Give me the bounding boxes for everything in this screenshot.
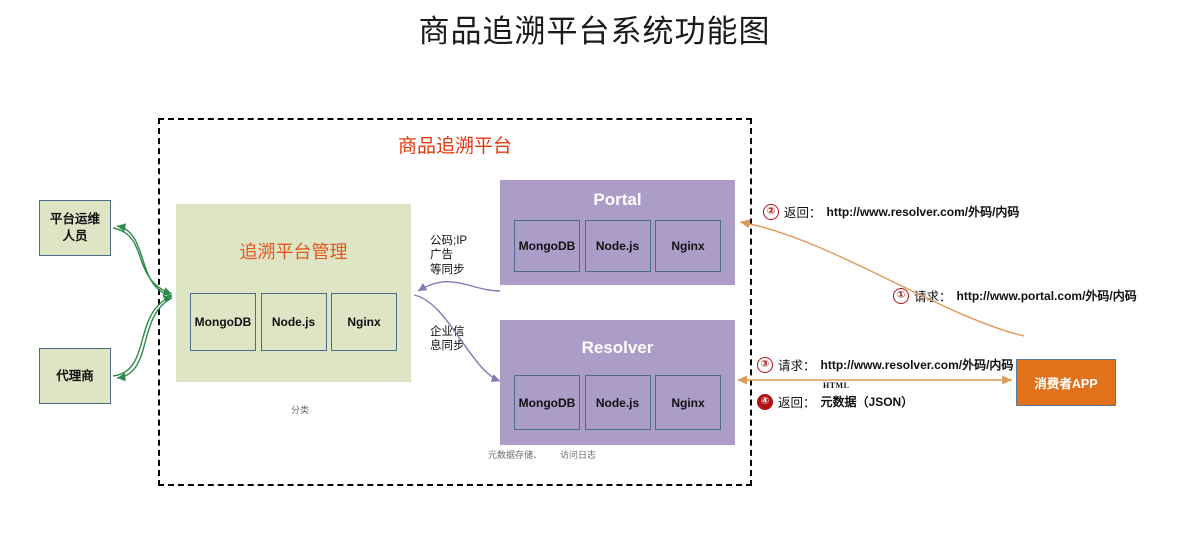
portal-title: Portal: [500, 190, 735, 210]
annotation-4-number: ④: [757, 394, 773, 410]
resolver-title: Resolver: [500, 338, 735, 358]
annotation-3-action: 请求：: [778, 355, 816, 374]
annotation-2-action: 返回：: [784, 202, 822, 221]
portal-components: MongoDB Node.js Nginx: [500, 220, 735, 272]
annotation-4-url: 元数据（JSON）: [821, 393, 914, 410]
component-mongodb[interactable]: MongoDB: [190, 293, 256, 351]
portal-component-mongodb[interactable]: MongoDB: [514, 220, 580, 272]
platform-management-title: 追溯平台管理: [176, 238, 411, 264]
footnote-metadata-store: 元数据存储、: [488, 448, 542, 461]
resolver-box[interactable]: Resolver MongoDB Node.js Nginx: [500, 320, 735, 445]
footnote-access-log: 访问日志: [560, 448, 596, 461]
resolver-components: MongoDB Node.js Nginx: [500, 375, 735, 430]
annotation-2-url: http://www.resolver.com/外码/内码: [827, 203, 1020, 220]
consumer-app-box[interactable]: 消费者APP: [1016, 359, 1116, 406]
platform-management-components: MongoDB Node.js Nginx: [176, 293, 411, 351]
footnote-classify: 分类: [291, 403, 309, 416]
actor-platform-ops[interactable]: 平台运维人员: [39, 200, 111, 256]
annotation-1-url: http://www.portal.com/外码/内码: [957, 287, 1137, 304]
annotation-3: ③ 请求： http://www.resolver.com/外码/内码: [757, 355, 1013, 374]
sync-label-bottom: 企业信息同步: [430, 325, 490, 354]
actor-platform-ops-label: 平台运维人员: [50, 211, 100, 245]
portal-component-nodejs[interactable]: Node.js: [585, 220, 651, 272]
portal-component-nginx[interactable]: Nginx: [655, 220, 721, 272]
annotation-3-number: ③: [757, 357, 773, 373]
annotation-2: ② 返回： http://www.resolver.com/外码/内码: [763, 202, 1019, 221]
resolver-component-nodejs[interactable]: Node.js: [585, 375, 651, 430]
annotation-4: ④ 返回： 元数据（JSON）: [757, 392, 913, 411]
actor-agent[interactable]: 代理商: [39, 348, 111, 404]
component-nginx[interactable]: Nginx: [331, 293, 397, 351]
html-protocol-label: HTML: [823, 381, 849, 390]
actor-agent-label: 代理商: [56, 368, 94, 385]
annotation-1-number: ①: [893, 288, 909, 304]
annotation-1-action: 请求：: [914, 286, 952, 305]
resolver-component-mongodb[interactable]: MongoDB: [514, 375, 580, 430]
arrow-app-to-portal: [740, 222, 1024, 336]
sync-label-top: 公码;IP广告等同步: [430, 234, 500, 277]
page-title: 商品追溯平台系统功能图: [0, 6, 1189, 51]
annotation-4-action: 返回：: [778, 392, 816, 411]
platform-boundary-label: 商品追溯平台: [158, 131, 752, 158]
component-nodejs[interactable]: Node.js: [261, 293, 327, 351]
annotation-3-url: http://www.resolver.com/外码/内码: [821, 356, 1014, 373]
resolver-component-nginx[interactable]: Nginx: [655, 375, 721, 430]
portal-box[interactable]: Portal MongoDB Node.js Nginx: [500, 180, 735, 285]
annotation-1: ① 请求： http://www.portal.com/外码/内码: [893, 286, 1137, 305]
consumer-app-label: 消费者APP: [1034, 373, 1097, 392]
annotation-2-number: ②: [763, 204, 779, 220]
diagram-canvas: 商品追溯平台系统功能图 商品追溯平台 平台运维人员 代理商 追溯平台管理 Mon…: [0, 0, 1189, 548]
platform-management-box[interactable]: 追溯平台管理 MongoDB Node.js Nginx: [176, 204, 411, 382]
